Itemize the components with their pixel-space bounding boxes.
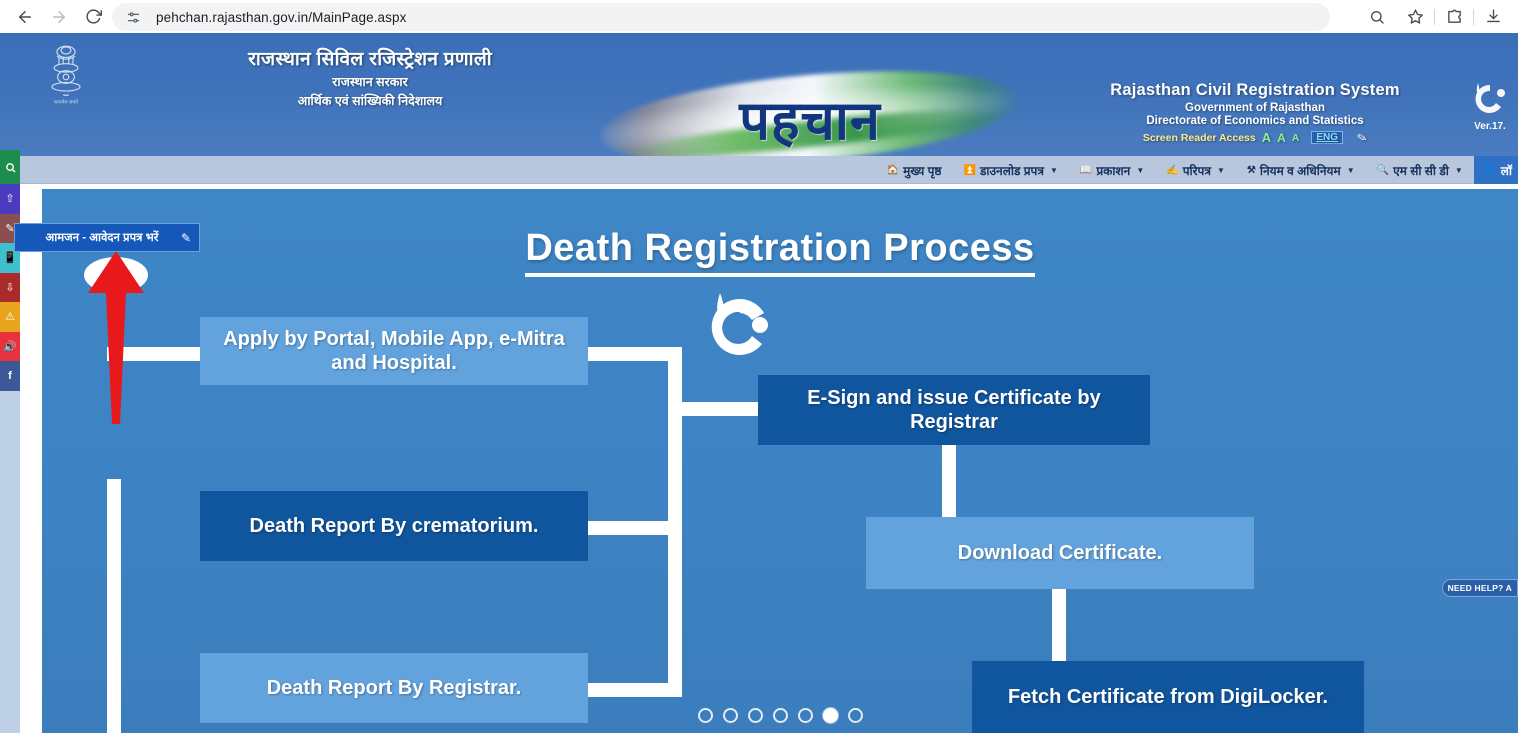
user-lock-icon: 👤 (1482, 163, 1497, 177)
screen-reader-access-link[interactable]: Screen Reader Access (1143, 132, 1256, 144)
slide-title: Death Registration Process (42, 227, 1518, 270)
address-bar-url[interactable]: pehchan.rajasthan.gov.in/MainPage.aspx (156, 10, 406, 25)
header-title-en: Rajasthan Civil Registration System (1090, 81, 1420, 100)
header-english-block: Rajasthan Civil Registration System Gove… (1090, 81, 1420, 145)
gavel-rules-icon: ⚒ (1247, 165, 1256, 176)
slider-dot-active[interactable] (823, 708, 838, 723)
chevron-down-icon: ▼ (1050, 166, 1058, 175)
need-help-badge[interactable]: NEED HELP? A (1442, 579, 1518, 597)
nav-item-home[interactable]: 🏠 मुख्य पृष्ठ (876, 156, 953, 184)
language-toggle-button[interactable]: ENG (1311, 131, 1343, 144)
main-navigation-bar: 🏠 मुख्य पृष्ठ ⏫ डाउनलोड प्रपत्र ▼ 📖 प्रक… (0, 156, 1518, 184)
slider-dot[interactable] (773, 708, 788, 723)
header-sub-en2: Directorate of Economics and Statistics (1090, 115, 1420, 127)
flow-box-text: Fetch Certificate from DigiLocker. (1008, 685, 1328, 709)
slider-dot[interactable] (698, 708, 713, 723)
chevron-down-icon: ▼ (1136, 166, 1144, 175)
address-bar[interactable]: pehchan.rajasthan.gov.in/MainPage.aspx (112, 3, 1330, 31)
slider-dot[interactable] (848, 708, 863, 723)
publication-book-icon: 📖 (1080, 165, 1092, 176)
nav-user-label: लॉ (1501, 162, 1512, 179)
web-page: सत्यमेव जयते राजस्थान सिविल रजिस्ट्रेशन … (0, 33, 1518, 733)
header-hindi-sub2: आर्थिक एवं सांख्यिकी निदेशालय (150, 92, 590, 109)
svg-text:सत्यमेव जयते: सत्यमेव जयते (54, 99, 78, 106)
connector-esign-to-download (942, 444, 956, 519)
pehchan-logo: पहचान (600, 75, 1020, 156)
site-settings-icon[interactable] (120, 4, 146, 30)
flow-box-text: E-Sign and issue Certificate by Registra… (768, 386, 1140, 435)
alert-warning-icon[interactable]: ⚠ (0, 302, 20, 332)
slide-title-text: Death Registration Process (525, 227, 1034, 277)
reload-icon[interactable] (76, 0, 110, 33)
nav-item-label: डाउनलोड प्रपत्र (980, 162, 1044, 179)
header-hindi-sub1: राजस्थान सरकार (150, 73, 590, 90)
star-bookmark-icon[interactable] (1396, 0, 1434, 33)
slider-dot[interactable] (798, 708, 813, 723)
extensions-puzzle-icon[interactable] (1435, 0, 1473, 33)
connector-left-vertical (107, 479, 121, 733)
browser-toolbar: pehchan.rajasthan.gov.in/MainPage.aspx (0, 0, 1518, 33)
person-up-icon[interactable]: ⇧ (0, 184, 20, 214)
nav-item-label: नियम व अधिनियम (1260, 162, 1341, 179)
forward-arrow-icon[interactable] (42, 0, 76, 33)
accessibility-controls: Screen Reader Access A A A ENG ✎ (1090, 130, 1420, 145)
download-icon[interactable] (1474, 0, 1512, 33)
slider-pagination (42, 708, 1518, 723)
site-header: सत्यमेव जयते राजस्थान सिविल रजिस्ट्रेशन … (0, 33, 1518, 156)
zoom-search-icon[interactable] (1358, 0, 1396, 33)
flow-box-download: Download Certificate. (866, 517, 1254, 589)
pencil-theme-icon[interactable]: ✎ (1355, 129, 1368, 145)
flow-box-crematorium: Death Report By crematorium. (200, 491, 588, 561)
nav-item-login[interactable]: 👤 लॉ (1474, 156, 1518, 184)
nav-item-label: मुख्य पृष्ठ (903, 162, 941, 179)
page-scroll-gutter (20, 223, 42, 733)
slider-dot[interactable] (748, 708, 763, 723)
download-form-icon: ⏫ (964, 165, 976, 176)
flow-box-text: Death Report By crematorium. (250, 514, 539, 538)
recycle-cycle-arrow-icon (690, 287, 790, 365)
pehchan-mark-icon (1464, 79, 1516, 123)
connector-to-esign (668, 402, 768, 416)
font-decrease-button[interactable]: A (1292, 132, 1300, 144)
nav-item-label: प्रकाशन (1096, 162, 1130, 179)
nav-item-rules-acts[interactable]: ⚒ नियम व अधिनियम ▼ (1236, 156, 1366, 184)
nav-items: 🏠 मुख्य पृष्ठ ⏫ डाउनलोड प्रपत्र ▼ 📖 प्रक… (876, 156, 1518, 184)
font-normal-button[interactable]: A (1277, 131, 1286, 145)
chevron-down-icon: ▼ (1455, 166, 1463, 175)
chevron-down-icon: ▼ (1347, 166, 1355, 175)
nav-item-publications[interactable]: 📖 प्रकाशन ▼ (1069, 156, 1155, 184)
connector-crematorium-right (587, 521, 682, 535)
circular-icon: ✍ (1166, 165, 1178, 176)
homepage-slider: Death Registration Process Apply by Port… (42, 189, 1518, 733)
red-up-arrow-annotation (58, 249, 178, 429)
flow-box-text: Death Report By Registrar. (267, 676, 522, 700)
connector-registrar-right (587, 683, 682, 697)
header-brand-version: Ver.17. (1464, 79, 1516, 132)
nav-item-mccd[interactable]: 🔍 एम सी सी डी ▼ (1366, 156, 1474, 184)
facebook-icon[interactable]: f (0, 361, 20, 391)
connector-download-to-digilocker (1052, 589, 1066, 661)
social-shortcut-rail: ⇧ ✎ 📱 ⇩ ⚠ 🔊 f (0, 184, 20, 391)
india-state-emblem-icon: सत्यमेव जयते (45, 41, 87, 113)
flow-box-text: Apply by Portal, Mobile App, e-Mitra and… (210, 327, 578, 376)
flow-box-text: Download Certificate. (958, 541, 1162, 565)
edit-square-icon[interactable]: ✎ (181, 231, 191, 245)
apply-form-tab-label: आमजन - आवेदन प्रपत्र भरें (23, 230, 181, 245)
flow-box-esign: E-Sign and issue Certificate by Registra… (758, 375, 1150, 445)
nav-item-circulars[interactable]: ✍ परिपत्र ▼ (1155, 156, 1236, 184)
header-hindi-block: राजस्थान सिविल रजिस्ट्रेशन प्रणाली राजस्… (150, 45, 590, 109)
home-icon: 🏠 (887, 165, 899, 176)
apply-form-tab[interactable]: आमजन - आवेदन प्रपत्र भरें ✎ (14, 223, 200, 252)
chevron-down-icon: ▼ (1217, 166, 1225, 175)
browser-toolbar-actions (1358, 0, 1518, 33)
pehchan-logo-text: पहचान (600, 81, 1020, 155)
nav-item-label: परिपत्र (1183, 162, 1211, 179)
header-sub-en1: Government of Rajasthan (1090, 102, 1420, 114)
download-apk-icon[interactable]: ⇩ (0, 273, 20, 303)
search-icon[interactable] (0, 150, 20, 184)
feedback-speaker-icon[interactable]: 🔊 (0, 332, 20, 362)
font-increase-button[interactable]: A (1262, 130, 1271, 145)
header-hindi-title: राजस्थान सिविल रजिस्ट्रेशन प्रणाली (150, 45, 590, 71)
flow-box-apply: Apply by Portal, Mobile App, e-Mitra and… (200, 317, 588, 385)
slider-dot[interactable] (723, 708, 738, 723)
nav-item-label: एम सी सी डी (1393, 162, 1449, 179)
back-arrow-icon[interactable] (8, 0, 42, 33)
nav-item-download-forms[interactable]: ⏫ डाउनलोड प्रपत्र ▼ (953, 156, 1069, 184)
search-mccd-icon: 🔍 (1377, 165, 1389, 176)
